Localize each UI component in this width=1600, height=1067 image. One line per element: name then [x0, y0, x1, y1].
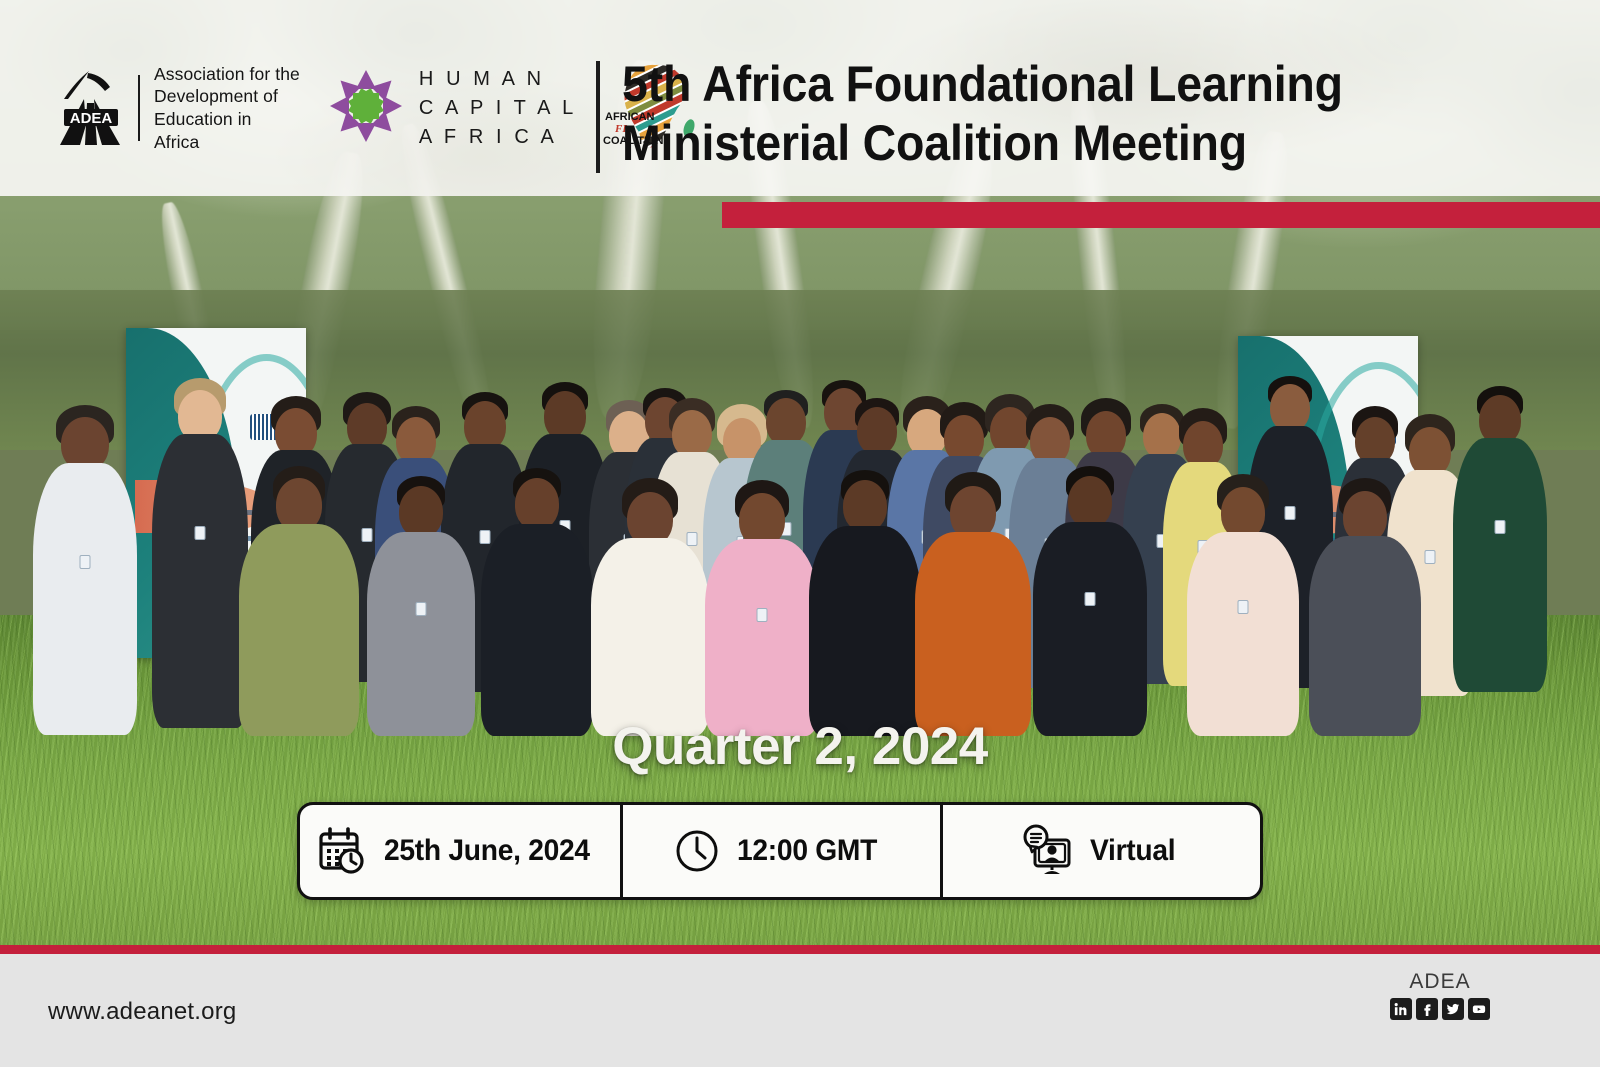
human-capital-africa-logo: H U M A N C A P I T A L A F R I C A — [326, 65, 577, 152]
adea-mark-icon: ADEA — [58, 69, 124, 147]
photo-person — [1450, 386, 1550, 692]
event-date-label: 25th June, 2024 — [384, 834, 590, 868]
event-poster: ADEA Association for the Development of … — [0, 0, 1600, 1067]
event-time-label: 12:00 GMT — [737, 834, 877, 868]
event-date: 25th June, 2024 — [300, 805, 620, 897]
poster-header: ADEA Association for the Development of … — [0, 0, 1600, 196]
event-venue: Virtual — [940, 805, 1260, 897]
adea-mark-label: ADEA — [70, 110, 113, 127]
event-venue-label: Virtual — [1090, 834, 1175, 868]
video-conference-icon — [1019, 824, 1073, 878]
photo-person-seated — [806, 470, 924, 736]
photo-person-seated — [702, 480, 822, 736]
adea-divider — [138, 75, 140, 141]
adea-logo-text: Association for the Development of Educa… — [154, 63, 300, 154]
photo-person-seated — [236, 466, 362, 736]
photo-person-seated — [912, 472, 1034, 736]
photo-person-seated — [1306, 478, 1424, 736]
hca-flower-icon — [326, 66, 406, 151]
social-links — [1390, 998, 1490, 1020]
youtube-icon[interactable] — [1468, 998, 1490, 1020]
twitter-icon[interactable] — [1442, 998, 1464, 1020]
page-title: 5th Africa Foundational Learning Ministe… — [622, 55, 1343, 172]
event-time: 12:00 GMT — [620, 805, 940, 897]
clock-icon — [674, 828, 720, 874]
linkedin-icon[interactable] — [1390, 998, 1412, 1020]
photo-person — [30, 405, 140, 735]
title-divider — [596, 61, 600, 173]
title-accent-bar — [722, 202, 1600, 228]
adea-logo: ADEA Association for the Development of … — [58, 63, 300, 154]
hca-logo-text: H U M A N C A P I T A L A F R I C A — [419, 65, 577, 152]
photo-person-seated — [364, 476, 478, 736]
social-block: ADEA — [1390, 970, 1490, 1020]
event-details-bar: 25th June, 2024 12:00 GMT — [297, 802, 1263, 900]
website-url[interactable]: www.adeanet.org — [48, 998, 236, 1026]
photo-person-seated — [478, 468, 596, 736]
quarter-label: Quarter 2, 2024 — [0, 716, 1600, 777]
title-block: 5th Africa Foundational Learning Ministe… — [596, 55, 1397, 173]
photo-person-seated — [1030, 466, 1150, 736]
photo-person-seated — [588, 478, 712, 736]
facebook-icon[interactable] — [1416, 998, 1438, 1020]
social-org-label: ADEA — [1409, 970, 1470, 994]
photo-person-seated — [1184, 474, 1302, 736]
poster-footer: www.adeanet.org ADEA — [0, 945, 1600, 1067]
calendar-clock-icon — [317, 826, 367, 876]
